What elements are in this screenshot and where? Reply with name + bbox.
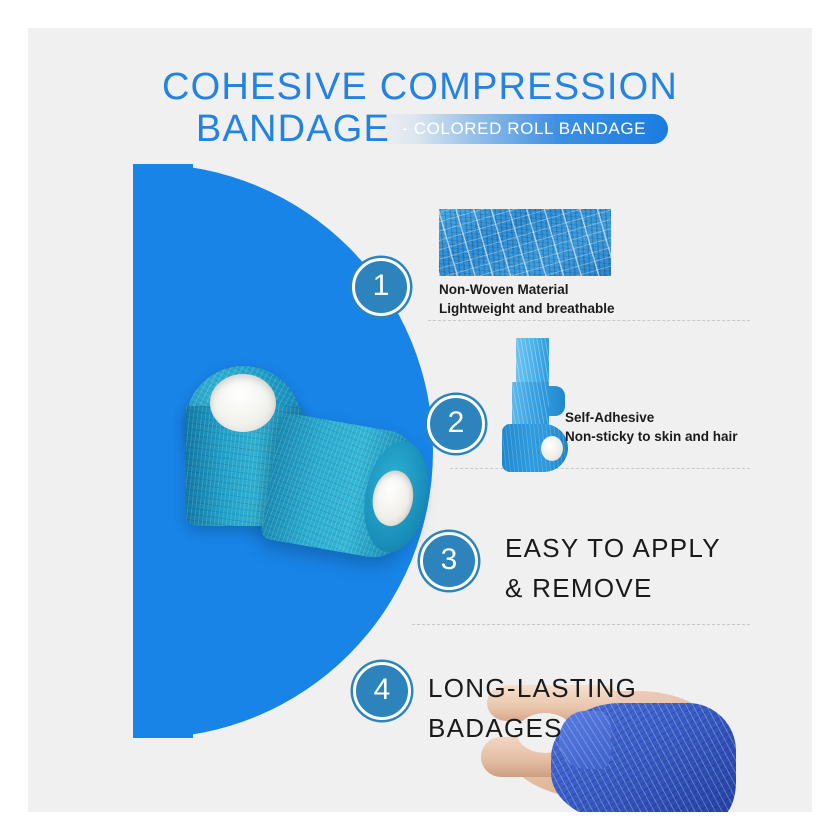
divider-1 xyxy=(428,320,750,321)
feature-1-line-1: Non-Woven Material xyxy=(439,281,615,300)
feature-3-line-1: EASY TO APPLY xyxy=(505,528,721,568)
bandage-roll-front-body xyxy=(260,412,432,564)
step-badge-4: 4 xyxy=(353,662,411,720)
feature-2-line-1: Self-Adhesive xyxy=(565,409,738,428)
heading-block: COHESIVE COMPRESSION BANDAGE - COLORED R… xyxy=(28,68,812,149)
product-infographic-poster: COHESIVE COMPRESSION BANDAGE - COLORED R… xyxy=(28,28,812,812)
bandage-strip-middle xyxy=(512,382,549,430)
divider-3 xyxy=(412,624,750,625)
bandage-strip-roll xyxy=(502,424,568,472)
feature-4-line-1: LONG-LASTING xyxy=(428,668,637,708)
bandage-strip-roll-core xyxy=(541,436,563,461)
step-badge-2: 2 xyxy=(427,395,485,453)
feature-1-line-2: Lightweight and breathable xyxy=(439,300,615,319)
title-row-secondary: BANDAGE - COLORED ROLL BANDAGE xyxy=(28,110,812,149)
step-badge-2-number: 2 xyxy=(448,408,465,438)
bandage-roll-back-core xyxy=(210,374,276,432)
step-badge-3: 3 xyxy=(420,532,478,590)
step-badge-3-number: 3 xyxy=(441,545,458,575)
feature-4-headline: LONG-LASTING BADAGES xyxy=(428,668,637,749)
bandage-strip-top xyxy=(516,338,549,384)
feature-3-headline: EASY TO APPLY & REMOVE xyxy=(505,528,721,609)
unrolling-bandage-illustration xyxy=(494,338,590,473)
step-badge-1-number: 1 xyxy=(373,271,390,301)
feature-1-caption: Non-Woven Material Lightweight and breat… xyxy=(439,281,615,318)
subtitle-badge: - COLORED ROLL BANDAGE xyxy=(376,114,668,144)
feature-4-line-2: BADAGES xyxy=(428,708,637,748)
page-title-line-1: COHESIVE COMPRESSION xyxy=(28,68,812,107)
feature-2-line-2: Non-sticky to skin and hair xyxy=(565,428,738,447)
step-badge-1: 1 xyxy=(352,258,410,316)
feature-3-line-2: & REMOVE xyxy=(505,568,721,608)
bandage-rolls-photo xyxy=(178,358,443,573)
feature-2-caption: Self-Adhesive Non-sticky to skin and hai… xyxy=(565,409,738,446)
non-woven-fabric-swatch xyxy=(439,209,611,276)
step-badge-4-number: 4 xyxy=(374,675,391,705)
page-title-line-2: BANDAGE xyxy=(196,110,390,149)
